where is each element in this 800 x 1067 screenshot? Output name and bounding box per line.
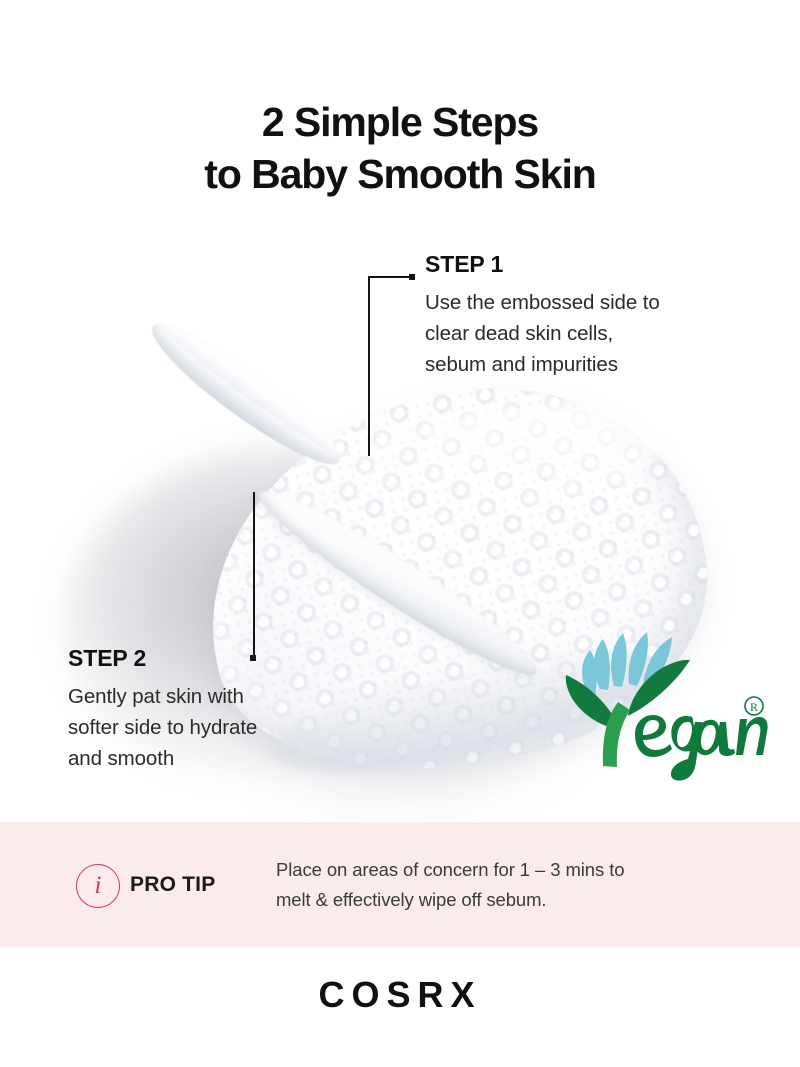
page-title: 2 Simple Steps to Baby Smooth Skin bbox=[0, 96, 800, 201]
step-2-title: STEP 2 bbox=[68, 645, 358, 672]
step-1-title: STEP 1 bbox=[425, 251, 745, 278]
cotton-pad-curled-tip-edge bbox=[157, 321, 339, 459]
step1-leader-line-horizontal bbox=[368, 276, 414, 278]
step1-leader-dot bbox=[409, 274, 415, 280]
info-icon: i bbox=[76, 864, 120, 908]
step1-leader-line-vertical bbox=[368, 276, 370, 456]
svg-text:R: R bbox=[750, 700, 758, 714]
vegan-wordmark bbox=[635, 715, 768, 781]
vegan-badge: R bbox=[540, 618, 770, 783]
step-1-block: STEP 1 Use the embossed side to clear de… bbox=[425, 251, 745, 380]
step-1-body: Use the embossed side to clear dead skin… bbox=[425, 287, 745, 380]
vegan-badge-icon: R bbox=[540, 618, 770, 783]
pro-tip-text: Place on areas of concern for 1 – 3 mins… bbox=[276, 855, 716, 915]
brand-logo-cosrx: COSRX bbox=[0, 974, 800, 1016]
step-2-body: Gently pat skin with softer side to hydr… bbox=[68, 681, 358, 774]
step-2-block: STEP 2 Gently pat skin with softer side … bbox=[68, 645, 358, 774]
info-icon-glyph: i bbox=[77, 865, 119, 906]
registered-mark-icon: R bbox=[745, 697, 763, 715]
step2-leader-line-vertical bbox=[253, 492, 255, 660]
pro-tip-label: PRO TIP bbox=[130, 873, 215, 897]
